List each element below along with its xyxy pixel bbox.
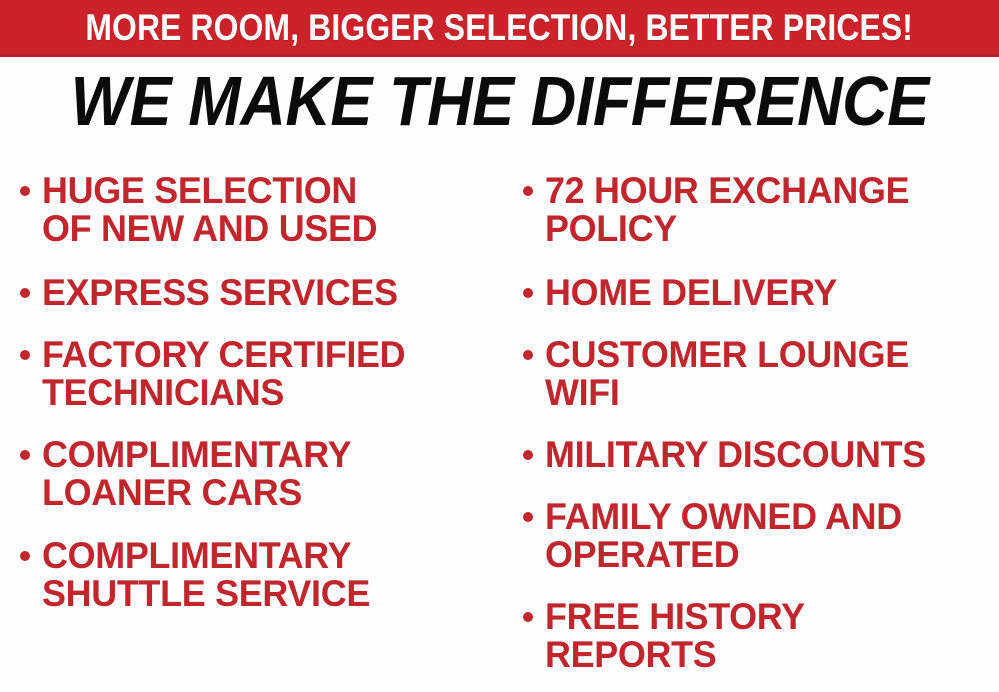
top-banner: MORE ROOM, BIGGER SELECTION, BETTER PRIC…	[0, 0, 999, 57]
list-item: HOME DELIVERY	[523, 274, 846, 312]
list-item-label: EXPRESS SERVICES	[42, 274, 398, 312]
headline-container: WE MAKE THE DIFFERENCE	[0, 62, 999, 140]
bullet-dot-icon	[20, 450, 30, 460]
list-item-label: FAMILY OWNED AND OPERATED	[545, 498, 902, 574]
list-item-label: FACTORY CERTIFIED TECHNICIANS	[42, 336, 405, 412]
bullet-dot-icon	[20, 288, 30, 298]
list-item-label: COMPLIMENTARY SHUTTLE SERVICE	[42, 537, 370, 613]
list-item: 72 HOUR EXCHANGE POLICY	[523, 172, 921, 248]
page-title: WE MAKE THE DIFFERENCE	[70, 66, 928, 136]
list-item-label: 72 HOUR EXCHANGE POLICY	[545, 172, 909, 248]
bullet-dot-icon	[523, 350, 533, 360]
list-item: FREE HISTORY REPORTS	[523, 598, 813, 674]
list-item: COMPLIMENTARY SHUTTLE SERVICE	[20, 537, 380, 613]
features-column-right: 72 HOUR EXCHANGE POLICY HOME DELIVERY CU…	[505, 150, 999, 692]
list-item: EXPRESS SERVICES	[20, 274, 409, 312]
list-item: HUGE SELECTION OF NEW AND USED	[20, 172, 388, 248]
list-item-label: CUSTOMER LOUNGE WIFI	[545, 336, 909, 412]
bullet-dot-icon	[523, 186, 533, 196]
list-item-label: MILITARY DISCOUNTS	[545, 436, 926, 474]
promotional-poster: MORE ROOM, BIGGER SELECTION, BETTER PRIC…	[0, 0, 999, 692]
list-item: FACTORY CERTIFIED TECHNICIANS	[20, 336, 417, 412]
bullet-dot-icon	[20, 186, 30, 196]
features-columns: HUGE SELECTION OF NEW AND USED EXPRESS S…	[0, 150, 999, 692]
bullet-dot-icon	[20, 350, 30, 360]
list-item-label: FREE HISTORY REPORTS	[545, 598, 805, 674]
list-item-label: COMPLIMENTARY LOANER CARS	[42, 436, 351, 512]
list-item: COMPLIMENTARY LOANER CARS	[20, 436, 361, 512]
bullet-dot-icon	[20, 551, 30, 561]
list-item: CUSTOMER LOUNGE WIFI	[523, 336, 920, 412]
features-column-left: HUGE SELECTION OF NEW AND USED EXPRESS S…	[0, 150, 505, 692]
list-item-label: HOME DELIVERY	[545, 274, 837, 312]
bullet-dot-icon	[523, 450, 533, 460]
bullet-dot-icon	[523, 512, 533, 522]
banner-headline-text: MORE ROOM, BIGGER SELECTION, BETTER PRIC…	[86, 9, 914, 46]
bullet-dot-icon	[523, 288, 533, 298]
bullet-dot-icon	[523, 612, 533, 622]
list-item: FAMILY OWNED AND OPERATED	[523, 498, 913, 574]
list-item: MILITARY DISCOUNTS	[523, 436, 938, 474]
list-item-label: HUGE SELECTION OF NEW AND USED	[42, 172, 377, 248]
